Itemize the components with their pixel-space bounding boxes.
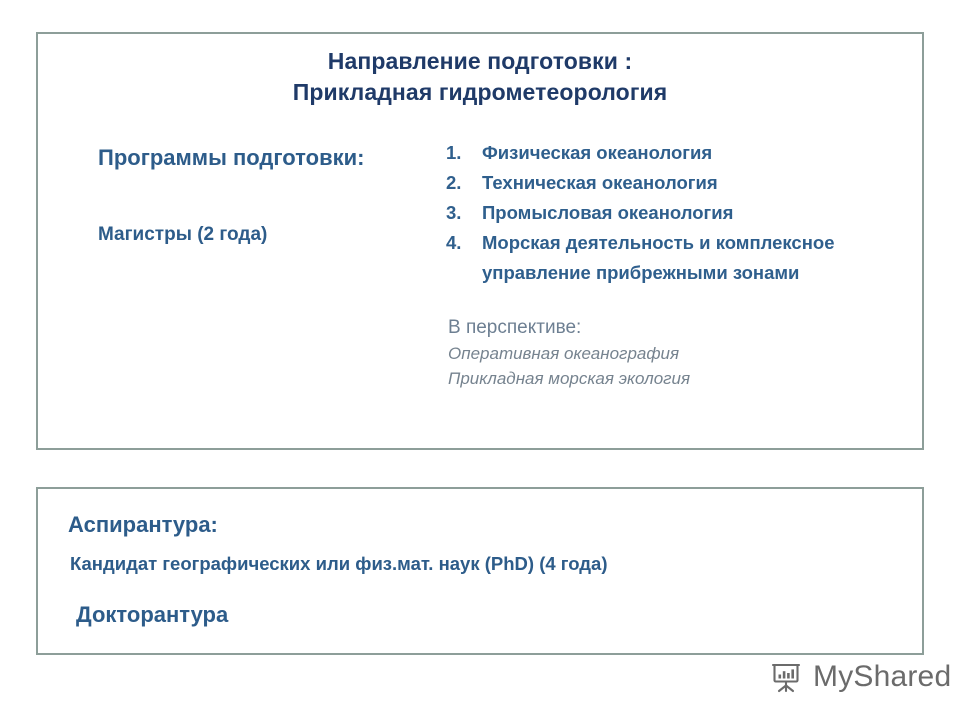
slide-canvas: Направление подготовки : Прикладная гидр… bbox=[0, 0, 960, 720]
postgraduate-detail: Кандидат географических или физ.мат. нау… bbox=[70, 551, 608, 577]
myshared-watermark: MyShared bbox=[766, 657, 951, 697]
list-item-marker: 1. bbox=[446, 138, 472, 168]
list-item: 3. Промысловая океанология bbox=[446, 198, 896, 228]
list-item-label: Промысловая океанология bbox=[482, 198, 896, 228]
postgraduate-heading: Аспирантура: bbox=[68, 511, 218, 539]
list-item-label: Физическая океанология bbox=[482, 138, 896, 168]
programs-heading: Программы подготовки: bbox=[64, 144, 444, 172]
doctorate-heading: Докторантура bbox=[76, 601, 228, 629]
page-title-line-2: Прикладная гидрометеорология bbox=[38, 77, 922, 108]
future-program-item: Оперативная океанография bbox=[448, 341, 896, 366]
masters-degree-label: Магистры (2 года) bbox=[64, 222, 444, 248]
programs-panel: Направление подготовки : Прикладная гидр… bbox=[36, 32, 924, 450]
list-item-marker: 4. bbox=[446, 228, 472, 258]
list-item-marker: 2. bbox=[446, 168, 472, 198]
future-programs-heading: В перспективе: bbox=[448, 314, 896, 341]
list-item-marker: 3. bbox=[446, 198, 472, 228]
list-item: 1. Физическая океанология bbox=[446, 138, 896, 168]
list-item-label: Морская деятельность и комплексное управ… bbox=[482, 228, 896, 288]
list-item: 4. Морская деятельность и комплексное уп… bbox=[446, 228, 896, 288]
presentation-board-icon bbox=[766, 657, 806, 697]
program-list: 1. Физическая океанология 2. Техническая… bbox=[446, 138, 896, 288]
page-title-line-1: Направление подготовки : bbox=[38, 46, 922, 77]
future-programs-block: В перспективе: Оперативная океанография … bbox=[446, 314, 896, 391]
future-program-item: Прикладная морская экология bbox=[448, 366, 896, 391]
list-item-label: Техническая океанология bbox=[482, 168, 896, 198]
programs-left-column: Программы подготовки: Магистры (2 года) bbox=[64, 144, 444, 248]
postgraduate-panel: Аспирантура: Кандидат географических или… bbox=[36, 487, 924, 655]
list-item: 2. Техническая океанология bbox=[446, 168, 896, 198]
programs-right-column: 1. Физическая океанология 2. Техническая… bbox=[446, 138, 896, 391]
myshared-watermark-text: MyShared bbox=[813, 660, 951, 694]
page-title: Направление подготовки : Прикладная гидр… bbox=[38, 46, 922, 108]
